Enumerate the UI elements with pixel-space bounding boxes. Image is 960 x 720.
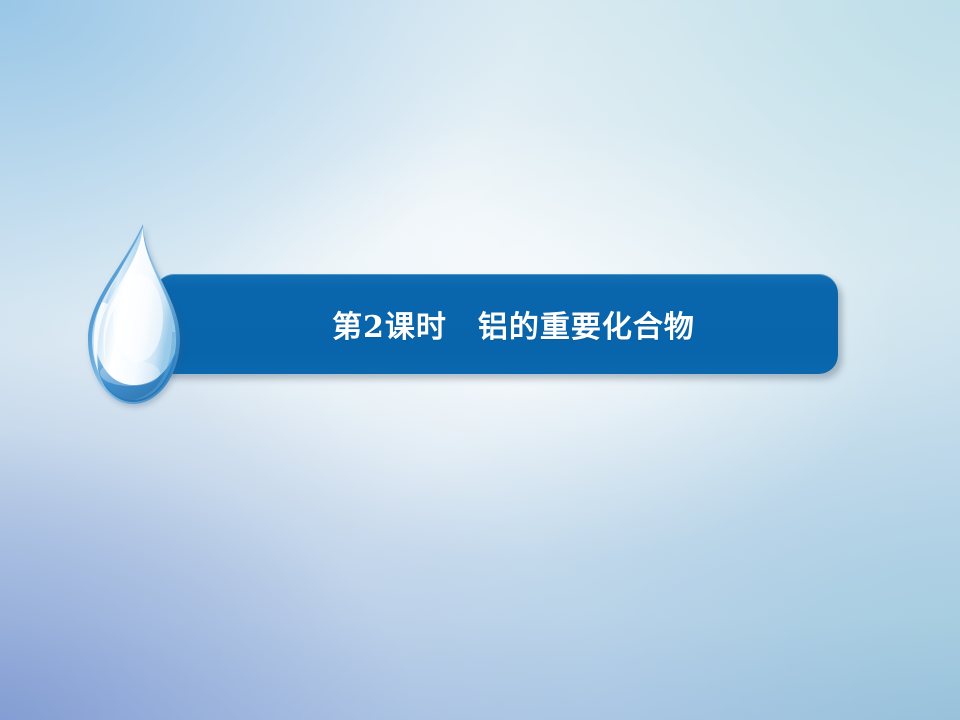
title-banner: 第2课时 铝的重要化合物: [155, 274, 838, 374]
water-droplet-icon: [86, 222, 182, 406]
page-title: 第2课时 铝的重要化合物: [155, 274, 838, 374]
slide-canvas: 第2课时 铝的重要化合物: [0, 0, 960, 720]
